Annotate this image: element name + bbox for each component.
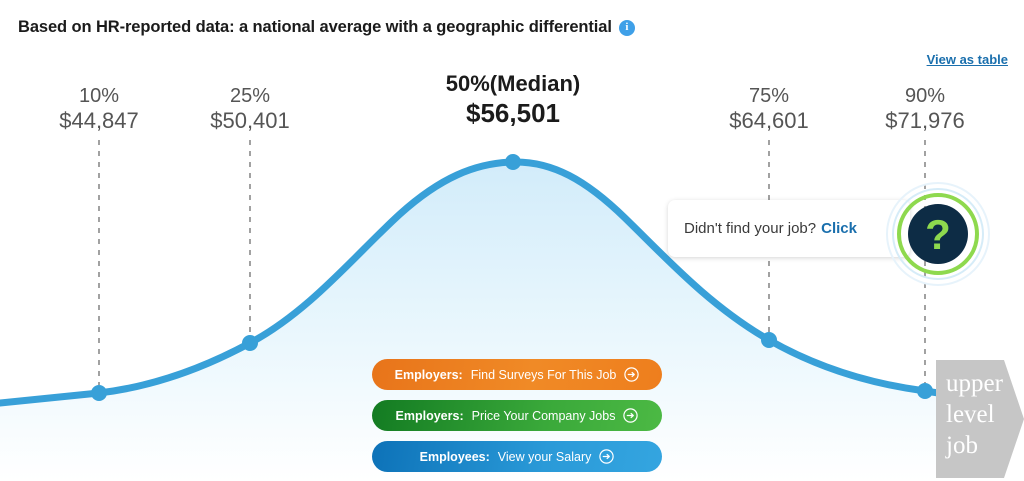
- view-your-salary-button-lead: Employees:: [420, 450, 490, 464]
- percentile-90-amount: $71,976: [885, 108, 965, 135]
- data-point-90[interactable]: [917, 383, 933, 399]
- percentile-10-pct: 10%: [59, 84, 139, 108]
- question-mark-glyph: ?: [925, 211, 951, 258]
- find-surveys-button[interactable]: Employers: Find Surveys For This Job: [372, 359, 662, 390]
- percentile-label-90: 90% $71,976: [885, 84, 965, 135]
- percentile-25-amount: $50,401: [210, 108, 290, 135]
- percentile-label-25: 25% $50,401: [210, 84, 290, 135]
- upper-tag-line-3: job: [946, 430, 1016, 461]
- data-point-25[interactable]: [242, 335, 258, 351]
- salary-distribution-widget: Based on HR-reported data: a national av…: [0, 0, 1024, 481]
- find-surveys-button-lead: Employers:: [395, 368, 463, 382]
- price-company-jobs-button[interactable]: Employers: Price Your Company Jobs: [372, 400, 662, 431]
- upper-tag-line-1: upper: [946, 368, 1016, 399]
- percentile-label-50-median: 50%(Median) $56,501: [446, 71, 580, 130]
- percentile-75-amount: $64,601: [729, 108, 809, 135]
- percentile-10-amount: $44,847: [59, 108, 139, 135]
- percentile-label-10: 10% $44,847: [59, 84, 139, 135]
- percentile-90-pct: 90%: [885, 84, 965, 108]
- price-company-jobs-button-lead: Employers:: [396, 409, 464, 423]
- view-your-salary-button[interactable]: Employees: View your Salary: [372, 441, 662, 472]
- arrow-right-circle-icon: [599, 449, 614, 464]
- question-mark-badge-icon[interactable]: ?: [886, 182, 990, 286]
- price-company-jobs-button-label: Price Your Company Jobs: [472, 409, 616, 423]
- data-point-10[interactable]: [91, 385, 107, 401]
- upper-tag-line-2: level: [946, 399, 1016, 430]
- percentile-50-pct: 50%(Median): [446, 71, 580, 98]
- didnt-find-job-click-link[interactable]: Click: [821, 220, 857, 237]
- cta-button-stack: Employers: Find Surveys For This Job Emp…: [372, 359, 662, 472]
- didnt-find-job-prompt[interactable]: Didn't find your job? Click: [668, 200, 910, 257]
- arrow-right-circle-icon: [624, 367, 639, 382]
- view-your-salary-button-label: View your Salary: [498, 450, 592, 464]
- arrow-right-circle-icon: [623, 408, 638, 423]
- find-surveys-button-label: Find Surveys For This Job: [471, 368, 617, 382]
- percentile-75-pct: 75%: [729, 84, 809, 108]
- upper-level-job-label: upper level job: [946, 368, 1016, 461]
- didnt-find-job-text: Didn't find your job?: [684, 220, 816, 237]
- percentile-25-pct: 25%: [210, 84, 290, 108]
- percentile-50-amount: $56,501: [446, 98, 580, 130]
- data-point-50[interactable]: [505, 154, 521, 170]
- data-point-75[interactable]: [761, 332, 777, 348]
- percentile-label-75: 75% $64,601: [729, 84, 809, 135]
- upper-level-job-tag: upper level job: [936, 360, 1024, 478]
